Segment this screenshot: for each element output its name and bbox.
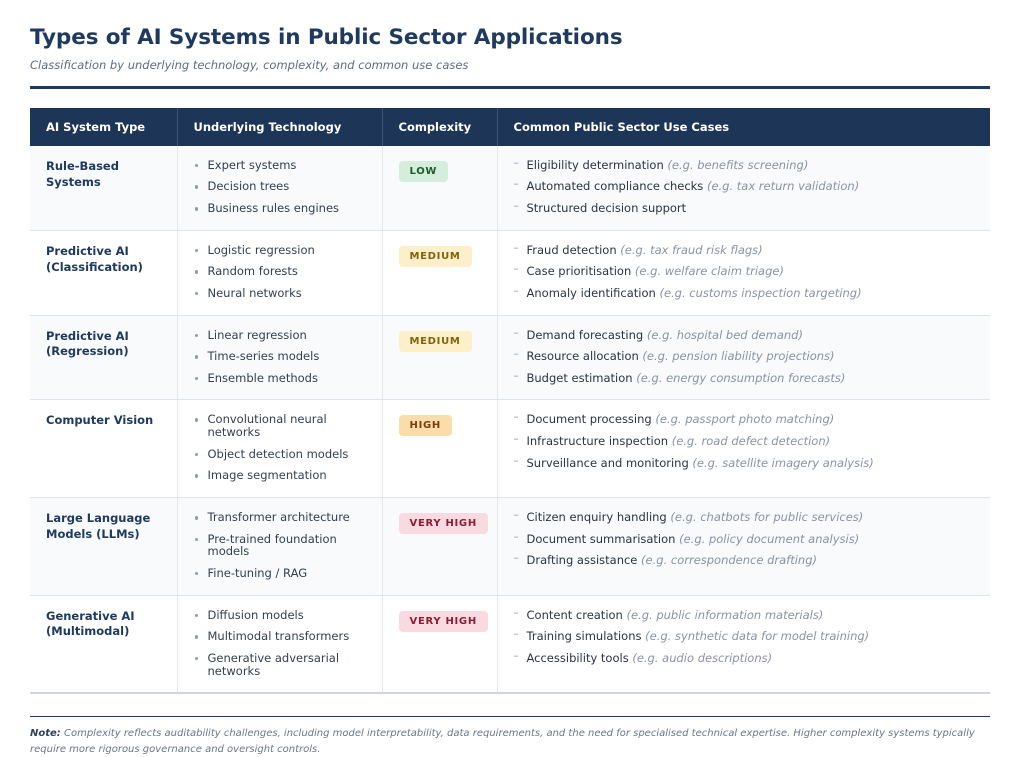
cell-technology: Transformer architecturePre-trained foun… — [177, 498, 382, 596]
use-case-label: Eligibility determination — [527, 158, 664, 172]
use-case-item: Drafting assistance (e.g. correspondence… — [514, 554, 975, 567]
technology-item: Fine-tuning / RAG — [194, 567, 366, 580]
cell-system-type: Predictive AI (Classification) — [30, 230, 177, 315]
use-case-item: Document processing (e.g. passport photo… — [514, 413, 975, 426]
technology-item: Image segmentation — [194, 469, 366, 482]
use-case-example: (e.g. hospital bed demand) — [647, 328, 803, 342]
cell-use-cases: Content creation (e.g. public informatio… — [497, 595, 990, 693]
document-page: Types of AI Systems in Public Sector App… — [0, 0, 1020, 757]
technology-list: Transformer architecturePre-trained foun… — [194, 511, 366, 580]
system-type-label: Large Language Models (LLMs) — [46, 511, 161, 543]
use-case-item: Resource allocation (e.g. pension liabil… — [514, 350, 975, 363]
use-case-item: Automated compliance checks (e.g. tax re… — [514, 180, 975, 193]
use-case-list: Citizen enquiry handling (e.g. chatbots … — [514, 511, 975, 567]
use-case-example: (e.g. road defect detection) — [672, 434, 830, 448]
cell-complexity: VERY HIGH — [382, 498, 497, 596]
use-case-example: (e.g. welfare claim triage) — [635, 264, 784, 278]
use-case-label: Infrastructure inspection — [527, 434, 669, 448]
technology-item: Ensemble methods — [194, 372, 366, 385]
cell-system-type: Rule-Based Systems — [30, 146, 177, 230]
use-case-example: (e.g. energy consumption forecasts) — [636, 371, 845, 385]
complexity-badge: MEDIUM — [399, 246, 472, 267]
system-type-label: Predictive AI (Regression) — [46, 329, 161, 361]
system-type-label: Generative AI (Multimodal) — [46, 609, 161, 641]
cell-complexity: LOW — [382, 146, 497, 230]
use-case-list: Demand forecasting (e.g. hospital bed de… — [514, 329, 975, 385]
technology-item: Transformer architecture — [194, 511, 366, 524]
use-case-item: Training simulations (e.g. synthetic dat… — [514, 630, 975, 643]
use-case-item: Document summarisation (e.g. policy docu… — [514, 533, 975, 546]
cell-use-cases: Demand forecasting (e.g. hospital bed de… — [497, 315, 990, 400]
cell-technology: Linear regressionTime-series modelsEnsem… — [177, 315, 382, 400]
use-case-example: (e.g. audio descriptions) — [632, 651, 772, 665]
technology-item: Generative adversarial networks — [194, 652, 366, 677]
footnote-text: Complexity reflects auditability challen… — [30, 728, 975, 755]
table-row: Predictive AI (Regression)Linear regress… — [30, 315, 990, 400]
table-header-row: AI System Type Underlying Technology Com… — [30, 108, 990, 146]
technology-item: Convolutional neural networks — [194, 413, 366, 438]
technology-list: Linear regressionTime-series modelsEnsem… — [194, 329, 366, 385]
technology-list: Expert systemsDecision treesBusiness rul… — [194, 159, 366, 215]
use-case-label: Budget estimation — [527, 371, 633, 385]
technology-item: Diffusion models — [194, 609, 366, 622]
page-title: Types of AI Systems in Public Sector App… — [30, 26, 990, 51]
use-case-item: Budget estimation (e.g. energy consumpti… — [514, 372, 975, 385]
complexity-badge: LOW — [399, 161, 449, 182]
cell-use-cases: Citizen enquiry handling (e.g. chatbots … — [497, 498, 990, 596]
cell-technology: Convolutional neural networksObject dete… — [177, 400, 382, 498]
technology-item: Decision trees — [194, 180, 366, 193]
use-case-label: Document summarisation — [527, 532, 676, 546]
system-type-label: Rule-Based Systems — [46, 159, 161, 191]
column-header-technology: Underlying Technology — [177, 108, 382, 146]
use-case-item: Eligibility determination (e.g. benefits… — [514, 159, 975, 172]
footnote-label: Note: — [30, 728, 61, 739]
table-row: Generative AI (Multimodal)Diffusion mode… — [30, 595, 990, 693]
use-case-label: Demand forecasting — [527, 328, 644, 342]
use-case-label: Surveillance and monitoring — [527, 456, 689, 470]
cell-use-cases: Document processing (e.g. passport photo… — [497, 400, 990, 498]
use-case-item: Fraud detection (e.g. tax fraud risk fla… — [514, 244, 975, 257]
technology-item: Object detection models — [194, 448, 366, 461]
cell-technology: Logistic regressionRandom forestsNeural … — [177, 230, 382, 315]
use-case-label: Case prioritisation — [527, 264, 632, 278]
use-case-example: (e.g. customs inspection targeting) — [659, 286, 861, 300]
cell-use-cases: Fraud detection (e.g. tax fraud risk fla… — [497, 230, 990, 315]
use-case-item: Content creation (e.g. public informatio… — [514, 609, 975, 622]
system-type-label: Predictive AI (Classification) — [46, 244, 161, 276]
technology-item: Logistic regression — [194, 244, 366, 257]
use-case-label: Fraud detection — [527, 243, 617, 257]
table-row: Rule-Based SystemsExpert systemsDecision… — [30, 146, 990, 230]
technology-item: Pre-trained foundation models — [194, 533, 366, 558]
complexity-badge: VERY HIGH — [399, 611, 488, 632]
use-case-list: Fraud detection (e.g. tax fraud risk fla… — [514, 244, 975, 300]
use-case-label: Structured decision support — [527, 201, 687, 215]
footnote-divider — [30, 716, 990, 717]
complexity-badge: HIGH — [399, 415, 452, 436]
use-case-item: Citizen enquiry handling (e.g. chatbots … — [514, 511, 975, 524]
use-case-example: (e.g. tax return validation) — [707, 179, 859, 193]
cell-complexity: HIGH — [382, 400, 497, 498]
cell-complexity: MEDIUM — [382, 230, 497, 315]
use-case-example: (e.g. benefits screening) — [667, 158, 808, 172]
column-header-use-cases: Common Public Sector Use Cases — [497, 108, 990, 146]
use-case-example: (e.g. public information materials) — [627, 608, 824, 622]
cell-system-type: Large Language Models (LLMs) — [30, 498, 177, 596]
use-case-list: Content creation (e.g. public informatio… — [514, 609, 975, 665]
use-case-list: Eligibility determination (e.g. benefits… — [514, 159, 975, 215]
use-case-label: Content creation — [527, 608, 623, 622]
cell-use-cases: Eligibility determination (e.g. benefits… — [497, 146, 990, 230]
column-header-system-type: AI System Type — [30, 108, 177, 146]
technology-item: Business rules engines — [194, 202, 366, 215]
use-case-item: Surveillance and monitoring (e.g. satell… — [514, 457, 975, 470]
use-case-example: (e.g. chatbots for public services) — [670, 510, 863, 524]
use-case-item: Accessibility tools (e.g. audio descript… — [514, 652, 975, 665]
column-header-complexity: Complexity — [382, 108, 497, 146]
use-case-example: (e.g. tax fraud risk flags) — [620, 243, 762, 257]
use-case-example: (e.g. passport photo matching) — [655, 412, 834, 426]
system-type-label: Computer Vision — [46, 413, 161, 429]
technology-item: Multimodal transformers — [194, 630, 366, 643]
use-case-example: (e.g. correspondence drafting) — [641, 553, 817, 567]
technology-item: Random forests — [194, 265, 366, 278]
cell-system-type: Generative AI (Multimodal) — [30, 595, 177, 693]
use-case-label: Citizen enquiry handling — [527, 510, 667, 524]
use-case-label: Automated compliance checks — [527, 179, 704, 193]
technology-item: Neural networks — [194, 287, 366, 300]
technology-list: Logistic regressionRandom forestsNeural … — [194, 244, 366, 300]
use-case-label: Resource allocation — [527, 349, 639, 363]
ai-systems-table: AI System Type Underlying Technology Com… — [30, 108, 990, 694]
title-divider — [30, 86, 990, 89]
use-case-example: (e.g. synthetic data for model training) — [645, 629, 869, 643]
page-subtitle: Classification by underlying technology,… — [30, 58, 990, 72]
table-row: Computer VisionConvolutional neural netw… — [30, 400, 990, 498]
footnote: Note: Complexity reflects auditability c… — [30, 726, 990, 757]
use-case-item: Case prioritisation (e.g. welfare claim … — [514, 265, 975, 278]
cell-technology: Expert systemsDecision treesBusiness rul… — [177, 146, 382, 230]
use-case-label: Training simulations — [527, 629, 642, 643]
technology-item: Linear regression — [194, 329, 366, 342]
technology-item: Expert systems — [194, 159, 366, 172]
use-case-example: (e.g. pension liability projections) — [642, 349, 834, 363]
use-case-label: Drafting assistance — [527, 553, 638, 567]
use-case-item: Infrastructure inspection (e.g. road def… — [514, 435, 975, 448]
complexity-badge: VERY HIGH — [399, 513, 488, 534]
complexity-badge: MEDIUM — [399, 331, 472, 352]
use-case-item: Anomaly identification (e.g. customs ins… — [514, 287, 975, 300]
use-case-example: (e.g. policy document analysis) — [679, 532, 859, 546]
use-case-item: Demand forecasting (e.g. hospital bed de… — [514, 329, 975, 342]
technology-item: Time-series models — [194, 350, 366, 363]
use-case-label: Accessibility tools — [527, 651, 629, 665]
use-case-label: Anomaly identification — [527, 286, 656, 300]
cell-system-type: Predictive AI (Regression) — [30, 315, 177, 400]
use-case-list: Document processing (e.g. passport photo… — [514, 413, 975, 469]
cell-complexity: MEDIUM — [382, 315, 497, 400]
use-case-item: Structured decision support — [514, 202, 975, 215]
use-case-label: Document processing — [527, 412, 652, 426]
cell-technology: Diffusion modelsMultimodal transformersG… — [177, 595, 382, 693]
table-header: AI System Type Underlying Technology Com… — [30, 108, 990, 146]
table-row: Large Language Models (LLMs)Transformer … — [30, 498, 990, 596]
cell-system-type: Computer Vision — [30, 400, 177, 498]
technology-list: Convolutional neural networksObject dete… — [194, 413, 366, 482]
table-body: Rule-Based SystemsExpert systemsDecision… — [30, 146, 990, 693]
use-case-example: (e.g. satellite imagery analysis) — [692, 456, 873, 470]
cell-complexity: VERY HIGH — [382, 595, 497, 693]
table-row: Predictive AI (Classification)Logistic r… — [30, 230, 990, 315]
technology-list: Diffusion modelsMultimodal transformersG… — [194, 609, 366, 678]
